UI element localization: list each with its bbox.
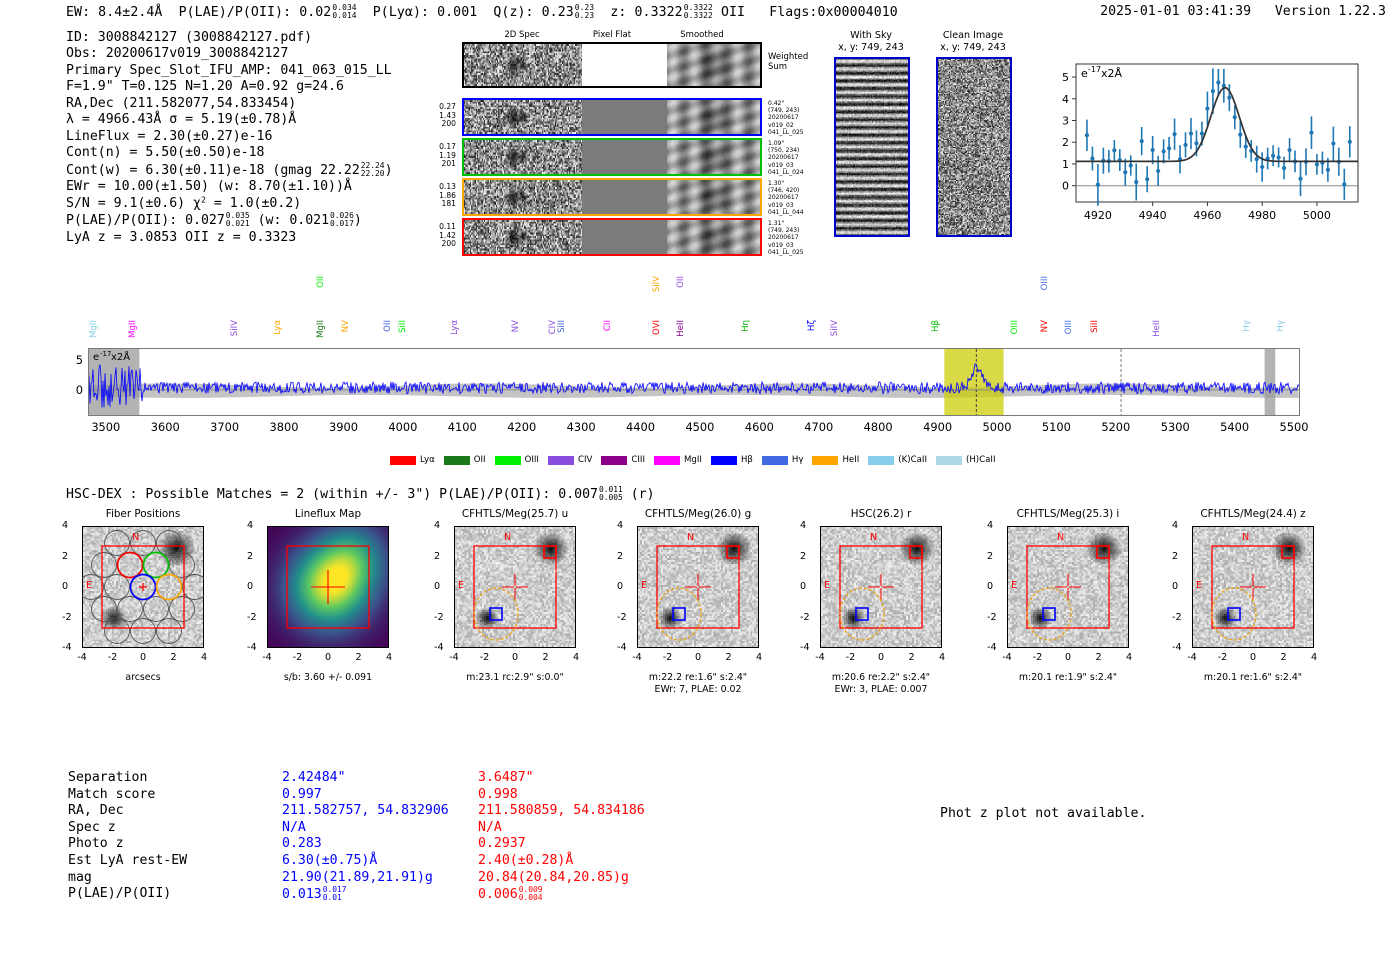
cutout-ytick: -4 (987, 642, 997, 653)
cutout-ytick: 0 (434, 581, 440, 592)
cutout-xtick: -4 (1002, 652, 1012, 663)
cutout-image (1192, 526, 1314, 648)
cutout-ytick: 0 (247, 581, 253, 592)
compass-east: E (86, 580, 92, 591)
match-table-label: RA, Dec (68, 803, 124, 820)
cutout-title: CFHTLS/Meg(25.3) i (985, 508, 1151, 520)
cutout-xtick: -4 (632, 652, 642, 663)
cutout-xtick: 2 (1280, 652, 1286, 663)
cutout-ytick: 0 (987, 581, 993, 592)
cutout-ytick: -4 (617, 642, 627, 653)
cutout-xtick: 0 (512, 652, 518, 663)
cutout-caption: m:20.6 re:2.2" s:2.4"EWr: 3, PLAE: 0.007 (798, 672, 964, 695)
spectrum-xtick: 3800 (270, 420, 299, 434)
cutout-title: CFHTLS/Meg(25.7) u (432, 508, 598, 520)
legend-item: HeII (812, 455, 859, 465)
legend-swatch (812, 456, 838, 465)
match-table-value-1: 0.0130.0170.01 (282, 886, 347, 904)
spectrum-xtick: 4500 (685, 420, 714, 434)
cutout-ytick: 2 (987, 551, 993, 562)
cutout-title: CFHTLS/Meg(24.4) z (1170, 508, 1336, 520)
cutout-ytick: 0 (800, 581, 806, 592)
cutout-xtick: 4 (201, 652, 207, 663)
cutout-ytick: 4 (1172, 520, 1178, 531)
match-table-value-2: 20.84(20.84,20.85)g (478, 870, 629, 887)
cutout-caption: m:23.1 rc:2.9" s:0.0" (432, 672, 598, 684)
legend-swatch (495, 456, 521, 465)
compass-north: N (504, 532, 511, 543)
legend-item: CIV (548, 455, 592, 465)
match-table-value-1: N/A (282, 820, 306, 837)
spectrum-ytick: 0 (61, 383, 83, 397)
cutout-ytick: 0 (617, 581, 623, 592)
match-table-label: Match score (68, 787, 155, 804)
cutout-ytick: -2 (800, 612, 810, 623)
cutout-xtick: 2 (725, 652, 731, 663)
cutout-xtick: -4 (815, 652, 825, 663)
legend-label: OII (474, 455, 486, 465)
cutout-title: Lineflux Map (245, 508, 411, 520)
legend-item: (H)CaII (936, 455, 996, 465)
legend-label: Hβ (741, 455, 753, 465)
cutout-xtick: 0 (1065, 652, 1071, 663)
spectrum-legend: LyαOIIOIIICIVCIIIMgIIHβHγHeII(K)CaII(H)C… (390, 455, 996, 465)
legend-item: (K)CaII (868, 455, 927, 465)
cutout-image (82, 526, 204, 648)
legend-item: Hβ (711, 455, 753, 465)
compass-north: N (870, 532, 877, 543)
cutout-xtick: -2 (480, 652, 490, 663)
cutout-ytick: -4 (247, 642, 257, 653)
cutout-caption-line: s/b: 3.60 +/- 0.091 (245, 672, 411, 684)
legend-item: MgII (654, 455, 702, 465)
legend-label: Lyα (420, 455, 435, 465)
spectrum-xtick: 4800 (864, 420, 893, 434)
legend-swatch (548, 456, 574, 465)
match-table-label: P(LAE)/P(OII) (68, 886, 171, 903)
cutout-ytick: 2 (247, 551, 253, 562)
cutout-xtick: 4 (1126, 652, 1132, 663)
cutout-caption: m:20.1 re:1.9" s:2.4" (985, 672, 1151, 684)
cutout-ytick: 4 (434, 520, 440, 531)
cutout-image (820, 526, 942, 648)
cutout-ytick: 2 (800, 551, 806, 562)
cutout-image (1007, 526, 1129, 648)
cutout-caption-line: m:20.1 re:1.9" s:2.4" (985, 672, 1151, 684)
spectrum-xtick: 5400 (1220, 420, 1249, 434)
match-table-value-2: 0.2937 (478, 836, 526, 853)
match-table-value-1: 0.997 (282, 787, 322, 804)
spectrum-xtick: 3700 (210, 420, 239, 434)
cutout-caption-line: EWr: 7, PLAE: 0.02 (615, 684, 781, 696)
compass-east: E (824, 580, 830, 591)
cutout-caption: s/b: 3.60 +/- 0.091 (245, 672, 411, 684)
cutout-ytick: 4 (800, 520, 806, 531)
legend-label: CIV (578, 455, 592, 465)
cutout-ytick: 0 (62, 581, 68, 592)
legend-label: Hγ (792, 455, 804, 465)
match-table-value-2: 0.0060.0090.004 (478, 886, 543, 904)
cutout-ytick: 4 (987, 520, 993, 531)
cutout-xtick: 2 (908, 652, 914, 663)
cutout-xtick: 0 (695, 652, 701, 663)
cutout-ytick: -2 (247, 612, 257, 623)
cutout-image (267, 526, 389, 648)
cutout-xtick: 0 (878, 652, 884, 663)
plae-value: 0.013 (282, 887, 322, 902)
spectrum-xtick: 4000 (388, 420, 417, 434)
legend-swatch (936, 456, 962, 465)
spectrum-xtick: 5300 (1161, 420, 1190, 434)
compass-east: E (641, 580, 647, 591)
cutout-title: CFHTLS/Meg(26.0) g (615, 508, 781, 520)
spectrum-xtick: 3500 (91, 420, 120, 434)
spectrum-xtick: 5100 (1042, 420, 1071, 434)
legend-item: OIII (495, 455, 539, 465)
spectrum-xtick: 4400 (626, 420, 655, 434)
cutout-ytick: 4 (247, 520, 253, 531)
cutout-xtick: 2 (1095, 652, 1101, 663)
compass-north: N (1242, 532, 1249, 543)
cutout-ytick: 2 (617, 551, 623, 562)
photz-note: Phot z plot not available. (940, 806, 1146, 821)
match-table-value-1: 2.42484" (282, 770, 346, 787)
spectrum-xtick: 4600 (745, 420, 774, 434)
legend-label: OIII (525, 455, 539, 465)
spectrum-xtick: 4300 (567, 420, 596, 434)
cutout-xtick: -4 (449, 652, 459, 663)
cutout-ytick: 0 (1172, 581, 1178, 592)
match-table-value-1: 0.283 (282, 836, 322, 853)
legend-label: (K)CaII (898, 455, 927, 465)
cutout-ytick: -4 (434, 642, 444, 653)
match-table-label: Separation (68, 770, 147, 787)
legend-item: OII (444, 455, 486, 465)
cutout-xtick: -2 (846, 652, 856, 663)
cutout-xtick: 2 (355, 652, 361, 663)
spectrum-xtick: 5000 (983, 420, 1012, 434)
cutout-caption-line: m:20.1 re:1.6" s:2.4" (1170, 672, 1336, 684)
spectrum-xtick: 4700 (804, 420, 833, 434)
match-table-label: Spec z (68, 820, 116, 837)
match-table-value-1: 21.90(21.89,21.91)g (282, 870, 433, 887)
cutout-caption-line: EWr: 3, PLAE: 0.007 (798, 684, 964, 696)
legend-swatch (390, 456, 416, 465)
compass-north: N (132, 532, 139, 543)
cutout-ytick: 2 (62, 551, 68, 562)
cutout-title: HSC(26.2) r (798, 508, 964, 520)
cutout-ytick: 4 (617, 520, 623, 531)
legend-label: (H)CaII (966, 455, 996, 465)
cutout-title: Fiber Positions (60, 508, 226, 520)
legend-swatch (868, 456, 894, 465)
match-table-value-2: 2.40(±0.28)Å (478, 853, 573, 870)
match-table-value-1: 211.582757, 54.832906 (282, 803, 449, 820)
legend-swatch (711, 456, 737, 465)
cutout-xtick: -4 (77, 652, 87, 663)
cutout-ytick: -2 (1172, 612, 1182, 623)
cutout-xtick: -2 (293, 652, 303, 663)
legend-swatch (601, 456, 627, 465)
spectrum-xtick: 3900 (329, 420, 358, 434)
cutout-caption-line: arcsecs (60, 672, 226, 684)
hsc-plae-bounds: 0.0110.005 (599, 486, 623, 502)
compass-east: E (1011, 580, 1017, 591)
spectrum-xtick: 4100 (448, 420, 477, 434)
cutout-caption-line: m:22.2 re:1.6" s:2.4" (615, 672, 781, 684)
match-table-value-2: 3.6487" (478, 770, 534, 787)
cutout-xtick: 0 (140, 652, 146, 663)
cutout-xtick: -4 (1187, 652, 1197, 663)
legend-item: Hγ (762, 455, 804, 465)
cutout-caption: m:20.1 re:1.6" s:2.4" (1170, 672, 1336, 684)
compass-north: N (687, 532, 694, 543)
cutout-xtick: 4 (939, 652, 945, 663)
match-table-value-1: 6.30(±0.75)Å (282, 853, 377, 870)
compass-east: E (1196, 580, 1202, 591)
cutout-caption: m:22.2 re:1.6" s:2.4"EWr: 7, PLAE: 0.02 (615, 672, 781, 695)
cutout-xtick: 0 (1250, 652, 1256, 663)
cutout-ytick: -4 (62, 642, 72, 653)
cutout-image (637, 526, 759, 648)
cutout-xtick: -2 (1033, 652, 1043, 663)
cutout-xtick: -2 (663, 652, 673, 663)
legend-item: CIII (601, 455, 645, 465)
spectrum-xtick: 4900 (923, 420, 952, 434)
legend-label: HeII (842, 455, 859, 465)
match-table-label: mag (68, 870, 92, 887)
cutout-ytick: -2 (987, 612, 997, 623)
spectrum-axis: 3500360037003800390040004100420043004400… (0, 0, 1400, 460)
compass-north: N (1057, 532, 1064, 543)
cutout-xtick: 4 (756, 652, 762, 663)
legend-swatch (444, 456, 470, 465)
match-table-value-2: N/A (478, 820, 502, 837)
cutout-xtick: -2 (1218, 652, 1228, 663)
cutout-caption: arcsecs (60, 672, 226, 684)
legend-swatch (762, 456, 788, 465)
cutout-xtick: 2 (170, 652, 176, 663)
cutout-xtick: 2 (542, 652, 548, 663)
legend-item: Lyα (390, 455, 435, 465)
hsc-match-summary: HSC-DEX : Possible Matches = 2 (within +… (66, 486, 655, 502)
spectrum-xtick: 3600 (151, 420, 180, 434)
match-table-label: Est LyA rest-EW (68, 853, 187, 870)
cutout-xtick: 4 (1311, 652, 1317, 663)
spectrum-ytick: 5 (61, 353, 83, 367)
match-table-value-2: 211.580859, 54.834186 (478, 803, 645, 820)
legend-swatch (654, 456, 680, 465)
cutout-caption-line: m:23.1 rc:2.9" s:0.0" (432, 672, 598, 684)
cutout-xtick: -4 (262, 652, 272, 663)
cutout-ytick: -4 (1172, 642, 1182, 653)
cutout-xtick: 0 (325, 652, 331, 663)
cutout-ytick: -2 (617, 612, 627, 623)
plae-value: 0.006 (478, 887, 518, 902)
cutout-ytick: -2 (62, 612, 72, 623)
legend-label: CIII (631, 455, 645, 465)
plae-bounds: 0.0090.004 (519, 886, 543, 902)
cutout-ytick: 4 (62, 520, 68, 531)
cutout-caption-line: m:20.6 re:2.2" s:2.4" (798, 672, 964, 684)
cutout-ytick: -4 (800, 642, 810, 653)
cutout-xtick: 4 (386, 652, 392, 663)
spectrum-xtick: 5500 (1280, 420, 1309, 434)
match-table-label: Photo z (68, 836, 124, 853)
plae-bounds: 0.0170.01 (323, 886, 347, 902)
cutout-ytick: 2 (1172, 551, 1178, 562)
cutout-xtick: 4 (573, 652, 579, 663)
spectrum-xtick: 4200 (507, 420, 536, 434)
cutout-ytick: 2 (434, 551, 440, 562)
cutout-xtick: -2 (108, 652, 118, 663)
legend-label: MgII (684, 455, 702, 465)
compass-east: E (458, 580, 464, 591)
match-table-value-2: 0.998 (478, 787, 518, 804)
spectrum-xtick: 5200 (1101, 420, 1130, 434)
cutout-ytick: -2 (434, 612, 444, 623)
cutout-image (454, 526, 576, 648)
